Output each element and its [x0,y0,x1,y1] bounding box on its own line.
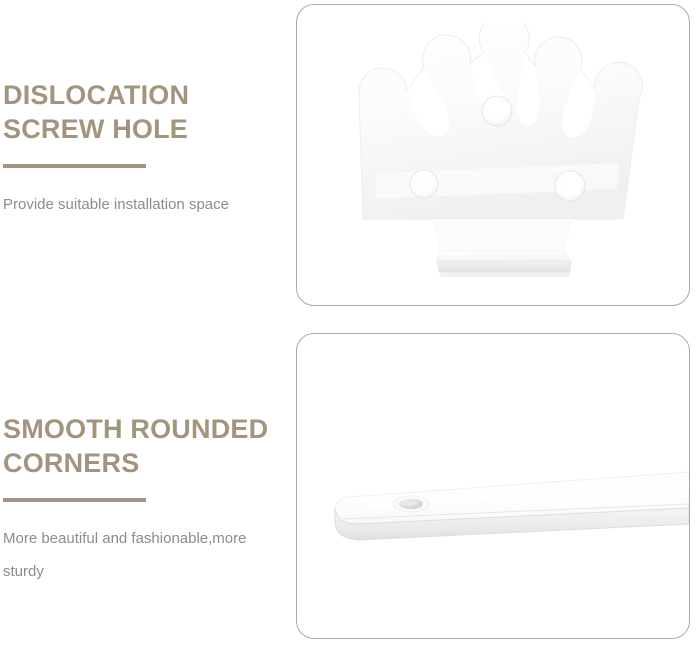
feature-heading: SMOOTH ROUNDED CORNERS [3,412,293,480]
shelf-platform-top [437,251,571,261]
feature-block-dislocation-screw-hole: DISLOCATION SCREW HOLE Provide suitable … [3,78,293,221]
heading-divider-rule [3,164,146,168]
shelf-board-icon [297,446,689,558]
screw-hole-bottom-left-bore [416,176,433,193]
feature-block-smooth-rounded-corners: SMOOTH ROUNDED CORNERS More beautiful an… [3,412,293,588]
screw-hole-inner-shadow [402,500,416,505]
photo-stage [297,334,689,638]
product-photo-panel-crown [296,4,690,306]
product-photo-panel-board [296,333,690,639]
screw-hole-bottom-right-bore [561,177,580,196]
screw-hole-top-center-bore [488,102,507,121]
heading-divider-rule [3,498,146,502]
shelf-riser [431,219,573,255]
feature-description: More beautiful and fashionable,more stur… [3,522,265,588]
photo-stage [297,5,689,305]
feature-description: Provide suitable installation space [3,188,265,221]
shelf-platform-edge [437,261,571,272]
shelf-board-illustration [297,446,689,558]
shelf-platform-underside [439,272,570,277]
infographic-page: DISLOCATION SCREW HOLE Provide suitable … [0,0,700,653]
crown-shelf-icon [323,23,663,288]
feature-heading: DISLOCATION SCREW HOLE [3,78,293,146]
crown-shelf-illustration [323,23,663,288]
